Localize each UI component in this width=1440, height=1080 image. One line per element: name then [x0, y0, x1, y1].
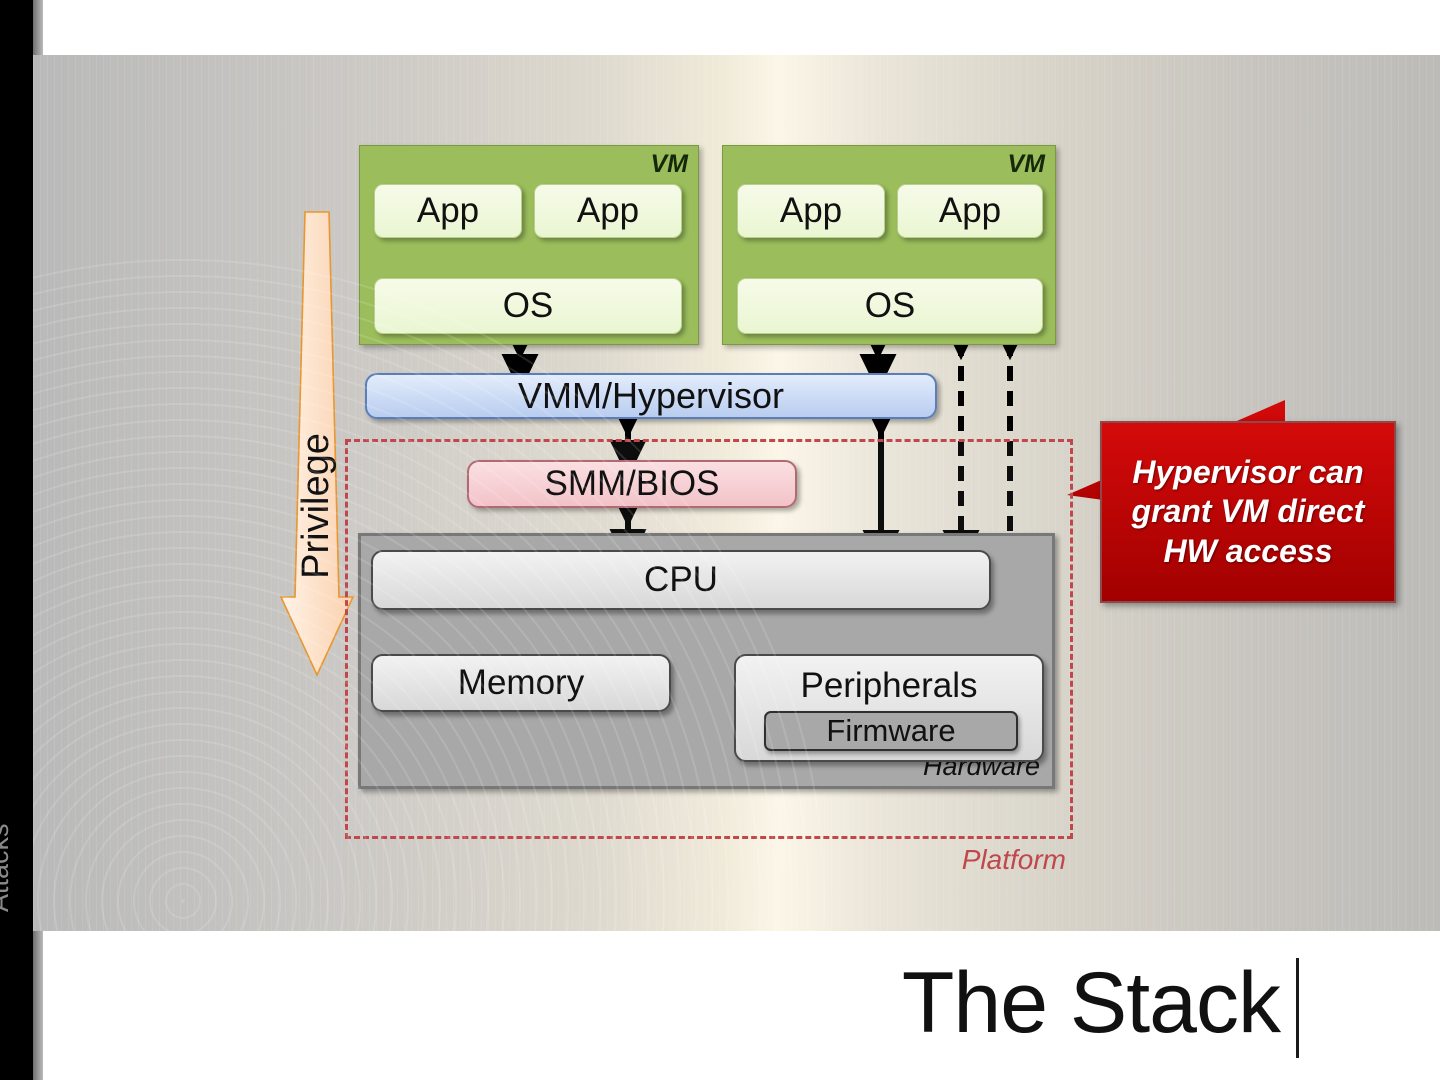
app-box-left-1[interactable]: App [374, 184, 522, 238]
slide-canvas: Privilege VM App App OS VM App App OS VM… [33, 55, 1440, 931]
section-label-attacks: Attacks [0, 792, 15, 912]
cpu-box[interactable]: CPU [371, 550, 991, 610]
peripherals-box[interactable]: Peripherals Firmware [734, 654, 1044, 762]
left-black-bar [0, 0, 33, 1080]
hardware-box[interactable]: Hardware CPU Memory Peripherals Firmware [358, 533, 1055, 789]
os-box-left[interactable]: OS [374, 278, 682, 334]
vm-box-right[interactable]: VM App App OS [722, 145, 1056, 345]
memory-box[interactable]: Memory [371, 654, 671, 712]
vm-tag-right: VM [1008, 150, 1046, 179]
vm-box-left[interactable]: VM App App OS [359, 145, 699, 345]
firmware-box[interactable]: Firmware [764, 711, 1018, 751]
title-divider-rule [1296, 958, 1299, 1058]
stack-diagram: Privilege VM App App OS VM App App OS VM… [33, 55, 1440, 931]
os-box-right[interactable]: OS [737, 278, 1043, 334]
slide-title: The Stack [902, 960, 1280, 1046]
hypervisor-box[interactable]: VMM/Hypervisor [365, 373, 937, 419]
peripherals-label: Peripherals [736, 666, 1042, 706]
smm-bios-box[interactable]: SMM/BIOS [467, 460, 797, 508]
platform-label: Platform [962, 844, 1066, 876]
app-box-left-2[interactable]: App [534, 184, 682, 238]
app-box-right-2[interactable]: App [897, 184, 1043, 238]
privilege-arrow-shape [281, 212, 353, 675]
vm-tag-left: VM [651, 150, 689, 179]
slide: Attacks [0, 0, 1440, 1080]
app-box-right-1[interactable]: App [737, 184, 885, 238]
callout-hypervisor-direct-hw[interactable]: Hypervisor can grant VM direct HW access [1100, 421, 1396, 603]
